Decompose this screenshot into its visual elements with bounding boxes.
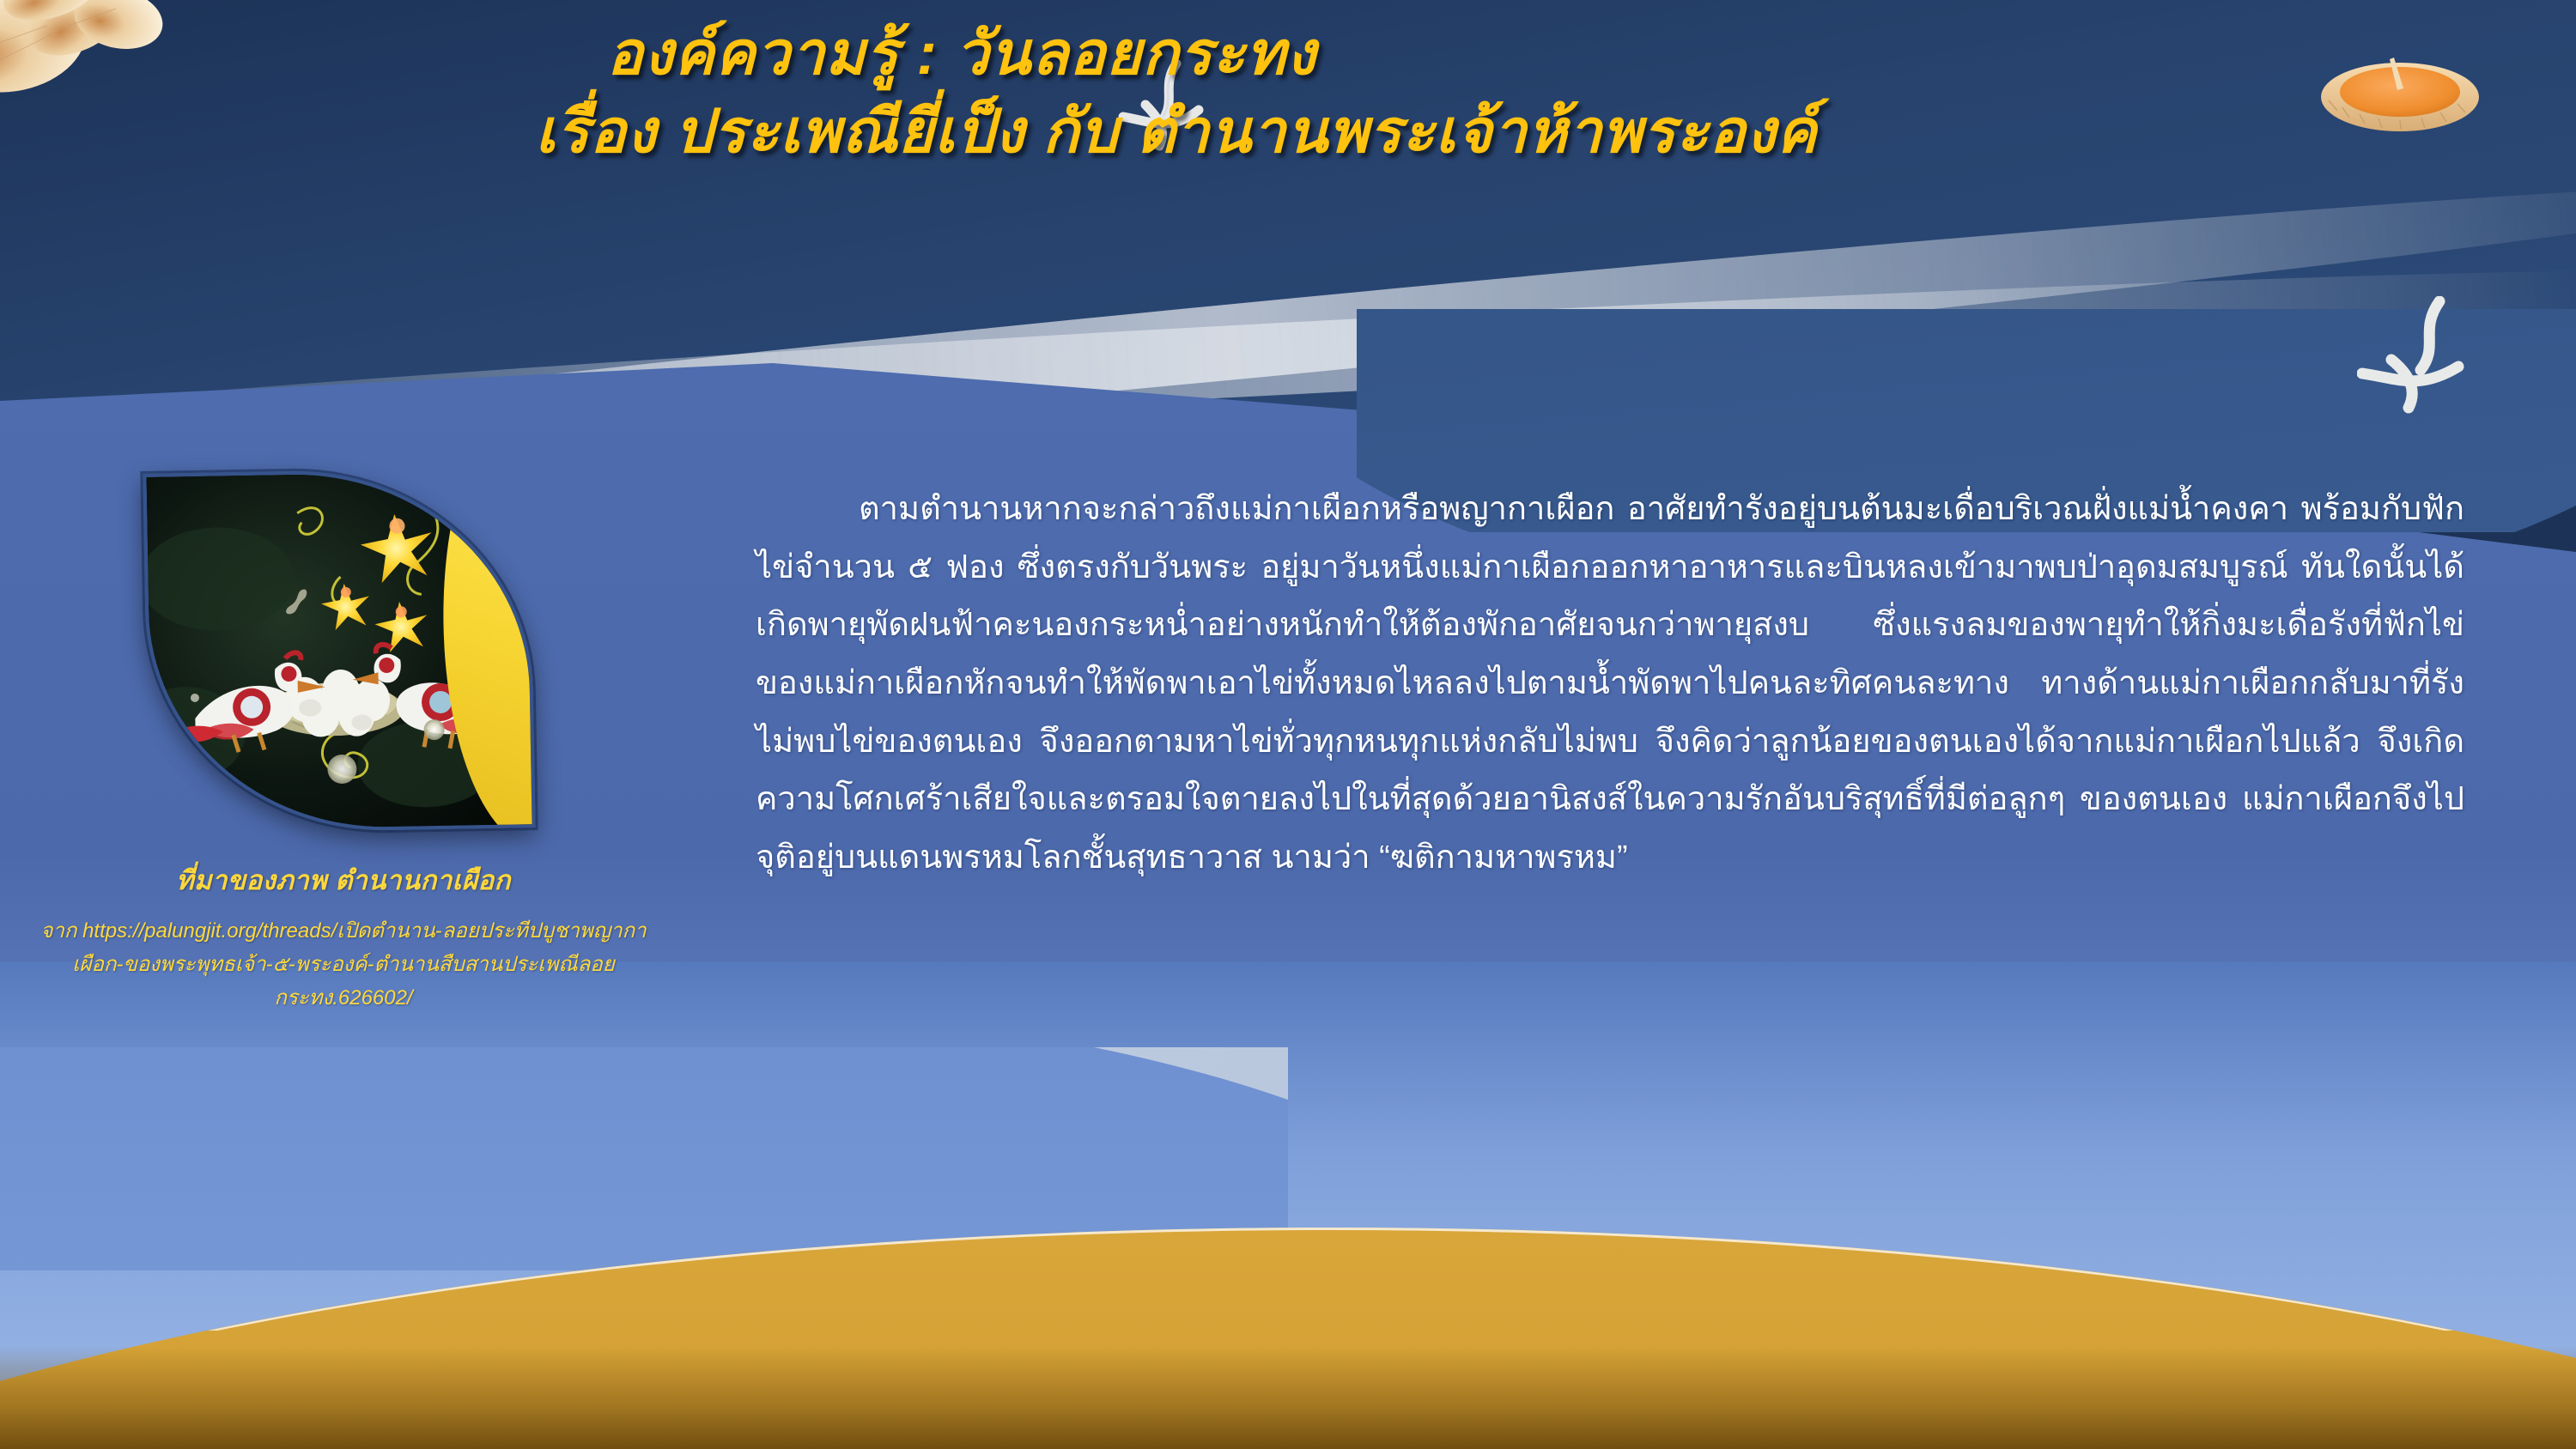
illustration-figure xyxy=(146,470,532,831)
caption-title: ที่มาของภาพ ตำนานกาเผือก xyxy=(34,858,653,901)
slide-canvas: องค์ความรู้ : วันลอยกระทง เรื่อง ประเพณี… xyxy=(0,0,2576,1449)
title-line-1: องค์ความรู้ : วันลอยกระทง xyxy=(0,19,2250,88)
caption-source-url[interactable]: จาก https://palungjit.org/threads/เปิดตำ… xyxy=(34,915,653,1016)
floating-candle-lamp-icon xyxy=(2318,39,2482,133)
bottom-shadow-band xyxy=(0,1346,2576,1449)
title-line-2: เรื่อง ประเพณียี่เป็ง กับ ตำนานพระเจ้าห้… xyxy=(103,97,2250,167)
body-text-block: ตามตำนานหากจะกล่าวถึงแม่กาเผือกหรือพญากา… xyxy=(756,481,2464,887)
illustration-leaf-frame xyxy=(143,467,535,834)
white-thread-icon xyxy=(2357,296,2486,416)
page-title: องค์ความรู้ : วันลอยกระทง เรื่อง ประเพณี… xyxy=(0,19,2250,166)
figure-caption: ที่มาของภาพ ตำนานกาเผือก จาก https://pal… xyxy=(34,858,653,1016)
body-paragraph: ตามตำนานหากจะกล่าวถึงแม่กาเผือกหรือพญากา… xyxy=(756,491,2464,876)
